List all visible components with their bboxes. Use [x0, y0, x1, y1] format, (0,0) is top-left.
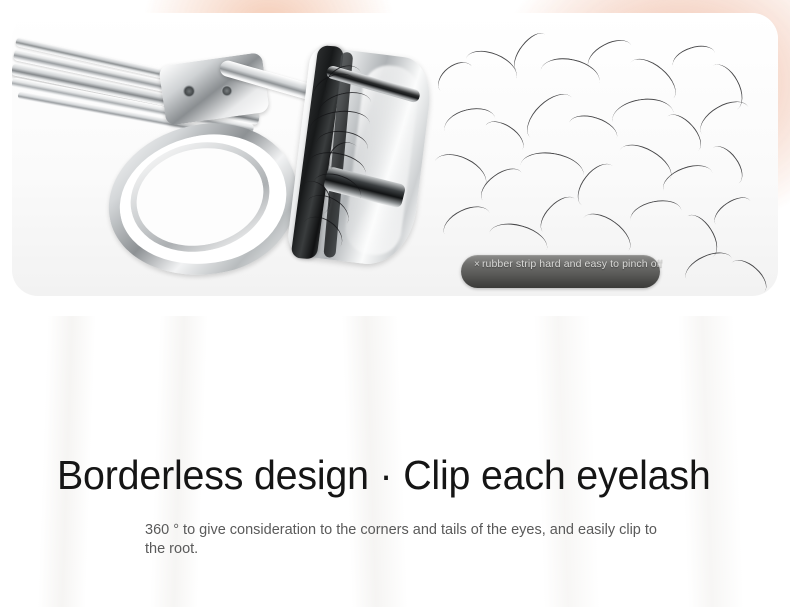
- close-icon[interactable]: ×: [474, 259, 480, 270]
- photo-caption-label: rubber strip hard and easy to pinch off: [482, 258, 663, 270]
- loose-lash: [534, 190, 584, 240]
- product-photo-card: [12, 13, 778, 296]
- eyelash-curler-illustration: [12, 13, 778, 296]
- product-photo: [12, 13, 778, 296]
- loose-lash: [709, 191, 757, 234]
- page-subcopy: 360 ° to give consideration to the corne…: [145, 521, 657, 558]
- loose-lash: [628, 196, 685, 235]
- product-detail-page: ×rubber strip hard and easy to pinch off…: [0, 0, 790, 607]
- hero-banner: ×rubber strip hard and easy to pinch off: [0, 0, 790, 316]
- loose-lash: [438, 200, 496, 248]
- loose-lash: [517, 148, 586, 194]
- photo-caption-text: ×rubber strip hard and easy to pinch off: [474, 258, 688, 272]
- loose-lash: [460, 44, 522, 93]
- page-title: Borderless design · Clip each eyelash: [57, 450, 719, 500]
